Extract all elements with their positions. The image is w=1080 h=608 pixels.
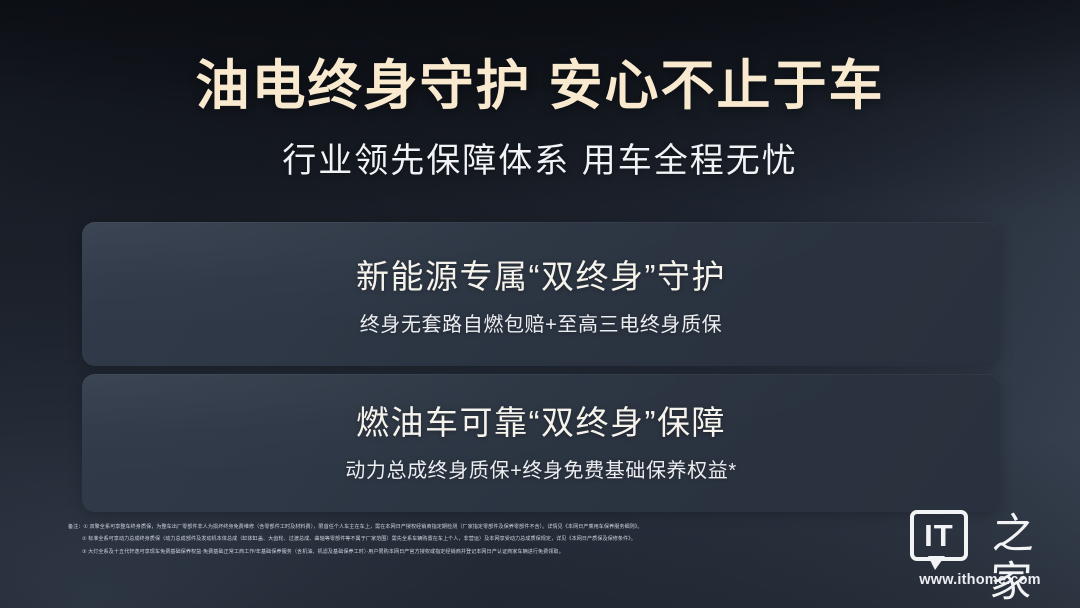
header-block: 油电终身守护 安心不止于车 行业领先保障体系 用车全程无忧 [0, 0, 1080, 182]
footnote-line: ③ 大灯全系及十五代轩逸可享现车免费基础保养权益·免费基础正常工商工作/年基础保… [68, 546, 928, 558]
page-title: 油电终身守护 安心不止于车 [0, 55, 1080, 119]
feature-card-list: 新能源专属“双终身”守护 终身无套路自燃包赔+至高三电终身质保 燃油车可靠“双终… [82, 222, 1000, 512]
card-subtext: 终身无套路自燃包赔+至高三电终身质保 [360, 313, 722, 337]
footnote-line: 备注：① 双擎全系可享整车终身质保，为整车出厂零部件非人为损坏终身免费维修（含零… [68, 521, 928, 533]
logo-it-text: IT [924, 520, 954, 551]
card-heading: 燃油车可靠“双终身”保障 [356, 403, 726, 443]
ithome-watermark: IT 之家 www.ithome.com [910, 510, 1050, 588]
ithome-logo-mark: IT 之家 [910, 510, 1050, 565]
card-heading: 新能源专属“双终身”守护 [356, 257, 726, 297]
feature-card-new-energy: 新能源专属“双终身”守护 终身无套路自燃包赔+至高三电终身质保 [82, 222, 1000, 366]
card-subtext: 动力总成终身质保+终身免费基础保养权益* [345, 459, 736, 483]
logo-chinese-text: 之家 [971, 510, 1052, 606]
page-subtitle: 行业领先保障体系 用车全程无忧 [0, 141, 1080, 182]
speech-bubble-icon: IT [910, 510, 968, 561]
footnote-block: 备注：① 双擎全系可享整车终身质保，为整车出厂零部件非人为损坏终身免费维修（含零… [68, 521, 928, 558]
feature-card-fuel-vehicle: 燃油车可靠“双终身”保障 动力总成终身质保+终身免费基础保养权益* [82, 374, 1000, 512]
footnote-line: ② 标准全系可享动力总成终身质保（动力总成部件及发动机本体总成（缸体缸盖、大齿轮… [68, 533, 928, 545]
